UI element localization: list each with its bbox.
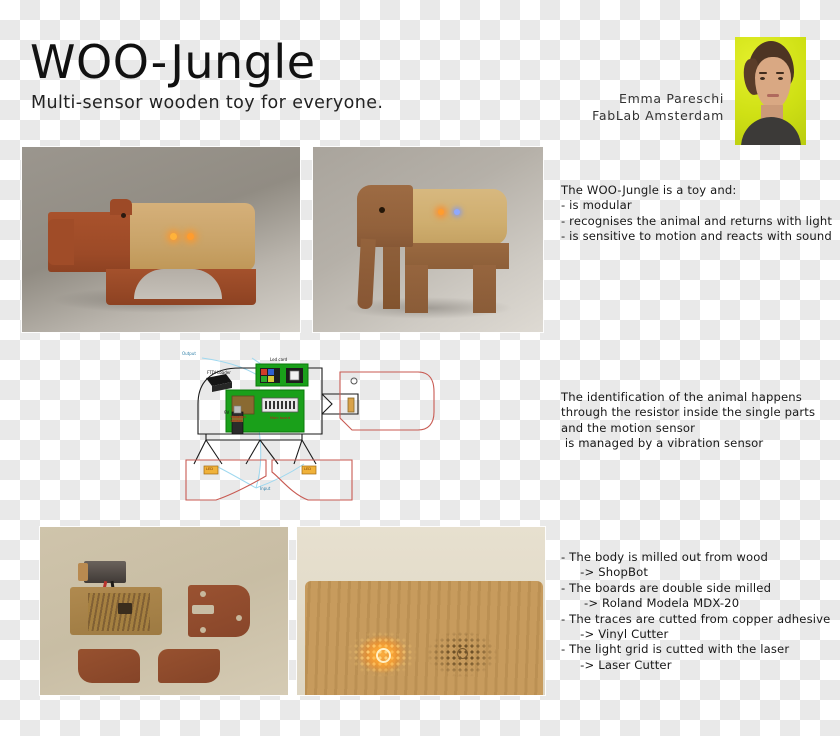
elephant-led-indicator bbox=[438, 209, 444, 215]
elephant-back-leg bbox=[383, 247, 400, 309]
elephant-led-indicator bbox=[454, 209, 460, 215]
hippo-leg-arch bbox=[134, 269, 222, 299]
microcontroller-chip bbox=[118, 603, 132, 614]
page-title: WOO-Jungle bbox=[30, 36, 316, 88]
author-portrait-photo bbox=[735, 37, 806, 145]
page-subtitle: Multi-sensor wooden toy for everyone. bbox=[31, 92, 383, 114]
photo-hippo-toy bbox=[22, 147, 300, 332]
unlit-center-ring bbox=[457, 648, 468, 659]
photo-disassembled-parts bbox=[40, 527, 288, 695]
photo-laser-light-grid bbox=[297, 527, 545, 695]
wood-leg-part bbox=[158, 649, 220, 683]
text-block-fabrication: - The body is milled out from wood -> Sh… bbox=[561, 550, 830, 673]
hippo-snout bbox=[48, 219, 74, 265]
magnet-dot bbox=[236, 615, 242, 621]
portrait-eye-left bbox=[760, 77, 765, 80]
hippo-led-indicator bbox=[170, 233, 177, 240]
microcontroller-component bbox=[262, 398, 298, 412]
photo-elephant-toy bbox=[313, 147, 543, 332]
eye-hole bbox=[351, 378, 357, 384]
resistor-symbol bbox=[348, 398, 354, 412]
lit-center-ring bbox=[376, 648, 391, 663]
battery-connector bbox=[78, 563, 88, 581]
portrait-eyebrow-left bbox=[759, 72, 767, 74]
portrait-eyebrow-right bbox=[776, 72, 784, 74]
schematic-svg bbox=[182, 348, 446, 506]
elephant-body-panel bbox=[407, 189, 507, 245]
portrait-mouth bbox=[767, 94, 779, 97]
magnet-dot bbox=[200, 627, 206, 633]
elephant-leg bbox=[473, 265, 496, 313]
hippo-eye bbox=[121, 213, 126, 218]
author-name: Emma Pareschi bbox=[592, 90, 724, 107]
wood-panel bbox=[305, 581, 543, 695]
head-connector-slot bbox=[192, 605, 214, 614]
wood-leg-part bbox=[78, 649, 140, 683]
elephant-eye bbox=[379, 207, 385, 213]
elephant-leg bbox=[405, 265, 428, 313]
battery-pack bbox=[84, 561, 126, 583]
elephant-head bbox=[357, 185, 413, 247]
hippo-led-indicator bbox=[187, 233, 194, 240]
led-left-box bbox=[204, 466, 218, 474]
text-block-features: The WOO-Jungle is a toy and: - is modula… bbox=[561, 183, 832, 245]
author-organization: FabLab Amsterdam bbox=[592, 107, 724, 124]
system-schematic-diagram: Output Input FTDI Loader Led card Vibrat… bbox=[182, 348, 446, 506]
led-right-box bbox=[302, 466, 316, 474]
author-block: Emma Pareschi FabLab Amsterdam bbox=[592, 90, 724, 124]
text-block-identification: The identification of the animal happens… bbox=[561, 390, 815, 452]
animal-part-outlines bbox=[186, 372, 434, 500]
magnet-dot bbox=[200, 591, 206, 597]
portrait-eye-right bbox=[778, 77, 783, 80]
